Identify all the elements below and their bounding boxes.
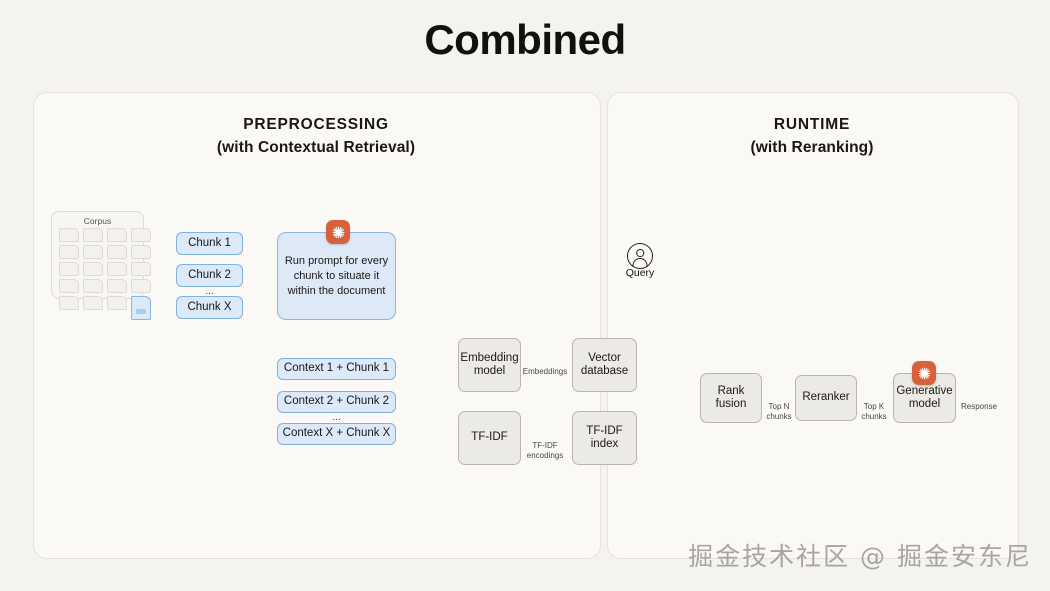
page-title: Combined xyxy=(0,16,1050,64)
watermark: 掘金技术社区 @ 掘金安东尼 xyxy=(688,537,1032,573)
corpus-document xyxy=(83,228,103,242)
tfidf-index-node[interactable]: TF-IDF index xyxy=(572,411,637,465)
corpus-document xyxy=(83,296,103,310)
generative-model-label: Generative model xyxy=(894,385,955,412)
tfidf-node[interactable]: TF-IDF xyxy=(458,411,521,465)
top-k-chunks-edge-label: Top K chunks xyxy=(855,402,893,422)
preprocessing-heading-title: PREPROCESSING xyxy=(243,116,389,133)
context-1-label: Context 1 + Chunk 1 xyxy=(284,362,389,376)
reranker-label: Reranker xyxy=(802,391,849,405)
corpus-document xyxy=(83,262,103,276)
tfidf-index-label: TF-IDF index xyxy=(573,425,636,452)
corpus-label: Corpus xyxy=(52,216,143,226)
runtime-heading-subtitle: (with Reranking) xyxy=(607,136,1017,159)
contexts-ellipsis: ... xyxy=(277,412,396,423)
corpus-document xyxy=(107,245,127,259)
corpus-document xyxy=(107,279,127,293)
corpus-document xyxy=(83,245,103,259)
corpus-document xyxy=(59,279,79,293)
rank-fusion-node[interactable]: Rank fusion xyxy=(700,373,762,423)
context-2-node[interactable]: Context 2 + Chunk 2 xyxy=(277,391,396,413)
query-label: Query xyxy=(610,267,670,279)
corpus-container: Corpus xyxy=(51,211,144,299)
preprocessing-heading-subtitle: (with Contextual Retrieval) xyxy=(33,136,599,159)
tfidf-encodings-edge-label: TF-IDF encodings xyxy=(519,441,571,461)
chunk-x-label: Chunk X xyxy=(187,301,231,315)
corpus-document xyxy=(107,262,127,276)
corpus-document-grid xyxy=(59,228,151,320)
anthropic-starburst-icon xyxy=(326,220,350,244)
reranker-node[interactable]: Reranker xyxy=(795,375,857,421)
corpus-document xyxy=(131,279,151,293)
corpus-document xyxy=(59,296,79,310)
corpus-document xyxy=(59,262,79,276)
corpus-document xyxy=(59,228,79,242)
chunk-1-label: Chunk 1 xyxy=(188,237,231,251)
run-prompt-label: Run prompt for every chunk to situate it… xyxy=(284,254,389,299)
corpus-document xyxy=(59,245,79,259)
panel-preprocessing xyxy=(33,92,601,559)
corpus-document xyxy=(131,228,151,242)
corpus-document-selected[interactable] xyxy=(131,296,151,320)
corpus-document xyxy=(131,262,151,276)
embeddings-edge-label: Embeddings xyxy=(519,367,571,377)
context-1-node[interactable]: Context 1 + Chunk 1 xyxy=(277,358,396,380)
corpus-document xyxy=(131,245,151,259)
context-x-node[interactable]: Context X + Chunk X xyxy=(277,423,396,445)
corpus-document xyxy=(107,228,127,242)
chunk-1-node[interactable]: Chunk 1 xyxy=(176,232,243,255)
vector-database-node[interactable]: Vector database xyxy=(572,338,637,392)
corpus-document xyxy=(83,279,103,293)
tfidf-label: TF-IDF xyxy=(471,431,507,445)
run-prompt-node[interactable]: Run prompt for every chunk to situate it… xyxy=(277,232,396,320)
runtime-heading-title: RUNTIME xyxy=(774,116,850,133)
context-2-label: Context 2 + Chunk 2 xyxy=(284,395,389,409)
embedding-model-node[interactable]: Embedding model xyxy=(458,338,521,392)
anthropic-starburst-icon xyxy=(912,361,936,385)
response-edge-label: Response xyxy=(955,402,1003,412)
runtime-heading: RUNTIME (with Reranking) xyxy=(607,113,1017,159)
top-n-chunks-edge-label: Top N chunks xyxy=(760,402,798,422)
user-circle-icon xyxy=(627,243,653,269)
chunk-2-label: Chunk 2 xyxy=(188,269,231,283)
context-x-label: Context X + Chunk X xyxy=(283,427,391,441)
panel-runtime xyxy=(607,92,1019,559)
vector-database-label: Vector database xyxy=(573,352,636,379)
embedding-model-label: Embedding model xyxy=(459,352,520,379)
chunk-x-node[interactable]: Chunk X xyxy=(176,296,243,319)
corpus-document xyxy=(107,296,127,310)
rank-fusion-label: Rank fusion xyxy=(701,385,761,412)
chunk-2-node[interactable]: Chunk 2 xyxy=(176,264,243,287)
preprocessing-heading: PREPROCESSING (with Contextual Retrieval… xyxy=(33,113,599,159)
